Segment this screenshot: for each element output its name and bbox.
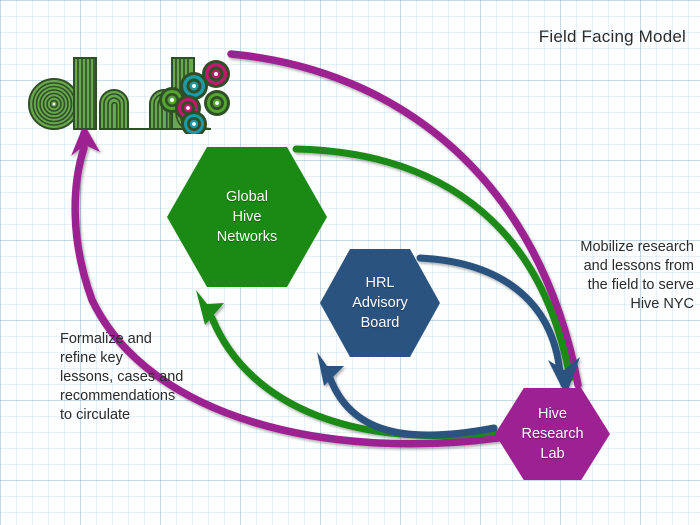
note-formalize: Formalize and refine key lessons, cases … — [60, 330, 183, 425]
node-hive-research-lab[interactable]: Hive Research Lab — [495, 388, 610, 480]
dml-logo — [24, 52, 232, 134]
diagram-canvas: Field Facing Model Global Hive Networks … — [0, 0, 700, 525]
edge-blue-to-hrl — [330, 378, 494, 435]
arrowhead-at-global — [196, 290, 224, 325]
node-global-hive-networks[interactable]: Global Hive Networks — [167, 147, 327, 287]
edge-blue-to-lab — [420, 258, 560, 372]
edge-green-to-lab — [296, 149, 570, 378]
node-hrl-advisory-board[interactable]: HRL Advisory Board — [320, 249, 440, 357]
arrowhead-at-hrl — [317, 352, 344, 386]
diagram-title: Field Facing Model — [539, 27, 686, 47]
note-mobilize: Mobilize research and lessons from the f… — [580, 238, 694, 314]
